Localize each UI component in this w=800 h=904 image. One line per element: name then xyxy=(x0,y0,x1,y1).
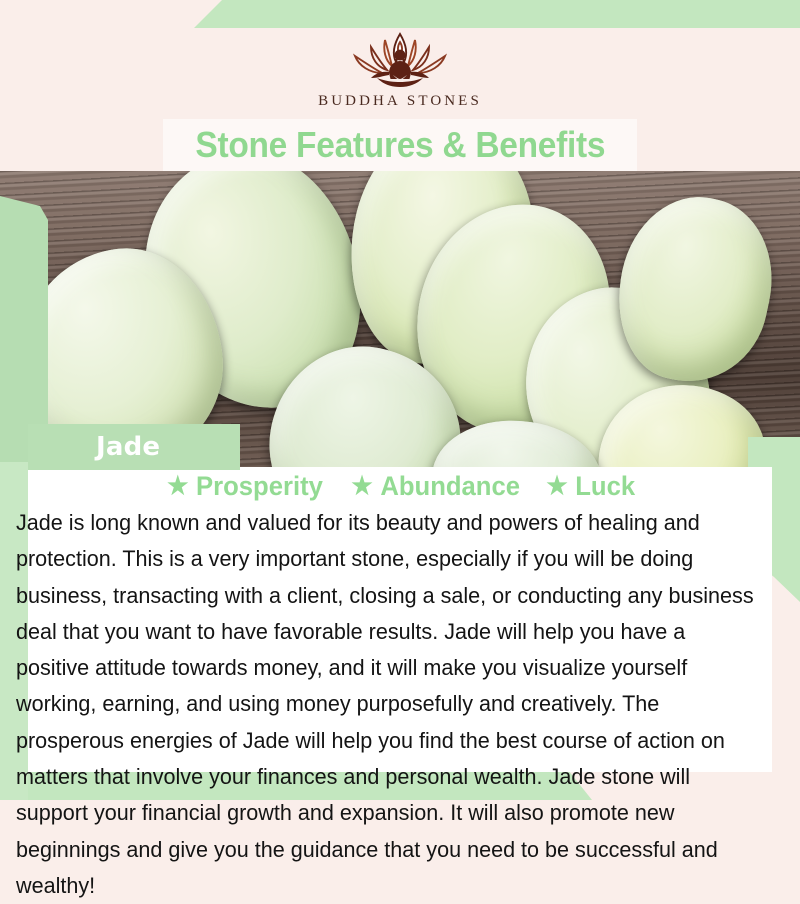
star-icon: ★ xyxy=(351,474,372,499)
star-icon: ★ xyxy=(546,474,567,499)
stone-description: Jade is long known and valued for its be… xyxy=(16,505,757,904)
benefit-item: ★ Luck xyxy=(546,471,635,502)
page-title: Stone Features & Benefits xyxy=(195,124,605,166)
lotus-meditation-icon xyxy=(337,28,463,90)
benefit-item: ★ Abundance xyxy=(351,471,520,502)
benefit-label: Abundance xyxy=(380,471,520,502)
star-icon: ★ xyxy=(167,474,188,499)
benefit-label: Prosperity xyxy=(196,471,323,502)
decoration-top-green-band xyxy=(0,0,800,28)
hero-image xyxy=(0,171,800,467)
benefit-item: ★ Prosperity xyxy=(167,471,323,502)
benefits-list: ★ Prosperity ★ Abundance ★ Luck xyxy=(0,469,800,503)
brand-name: BUDDHA STONES xyxy=(318,93,482,110)
stone-name-label: Jade xyxy=(96,432,160,462)
benefit-label: Luck xyxy=(575,471,635,502)
stone-name-chip: Jade xyxy=(28,424,240,470)
brand-header: BUDDHA STONES xyxy=(0,28,800,116)
section-title-banner: Stone Features & Benefits xyxy=(163,119,637,171)
